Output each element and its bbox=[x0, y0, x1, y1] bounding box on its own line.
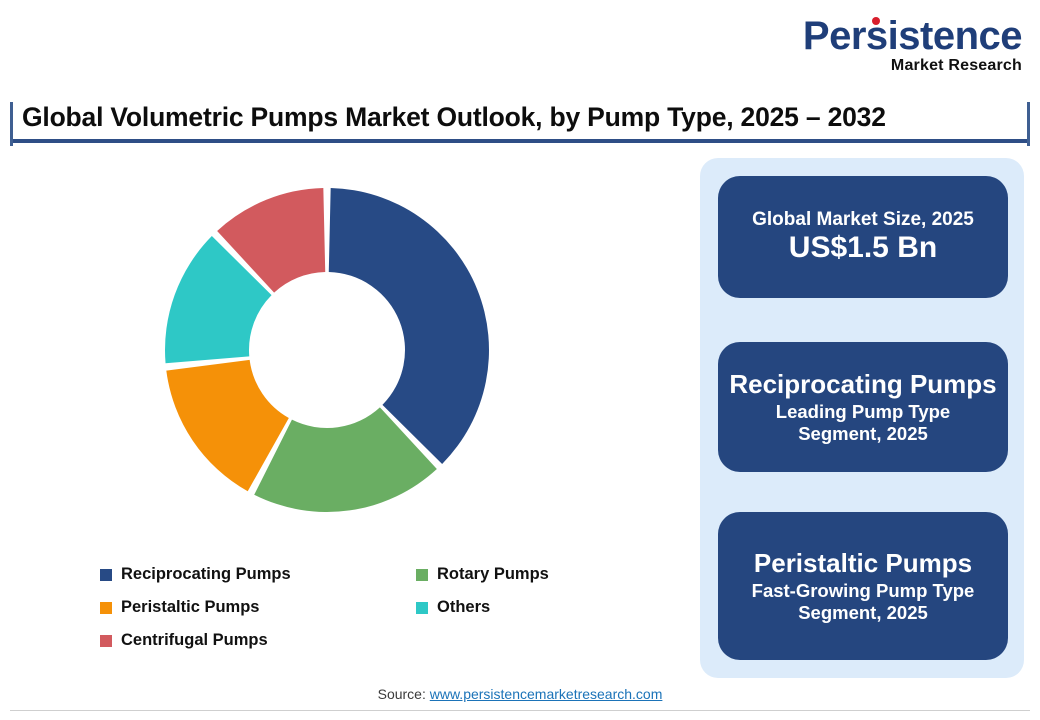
donut-slice[interactable]: Reciprocating Pumps 37.8% bbox=[329, 188, 489, 464]
card-subline-2: Segment, 2025 bbox=[792, 423, 934, 445]
legend-item-reciprocating-pumps[interactable]: Reciprocating Pumps bbox=[100, 565, 416, 584]
legend-label: Others bbox=[437, 598, 490, 617]
highlight-card-leading-segment: Reciprocating Pumps Leading Pump Type Se… bbox=[718, 342, 1008, 472]
footer-divider bbox=[10, 710, 1030, 711]
card-value: US$1.5 Bn bbox=[789, 231, 937, 266]
logo-dot-icon bbox=[872, 17, 880, 25]
brand-logo: Persistence Market Research bbox=[762, 16, 1022, 74]
infographic-page: Persistence Market Research Global Volum… bbox=[0, 0, 1040, 720]
donut-chart: Reciprocating Pumps 37.8%Rotary Pumps 20… bbox=[20, 160, 660, 560]
card-subline-2: Segment, 2025 bbox=[792, 602, 934, 624]
title-left-edge bbox=[10, 102, 13, 146]
legend-item-peristaltic-pumps[interactable]: Peristaltic Pumps bbox=[100, 598, 416, 617]
legend-swatch-icon bbox=[100, 602, 112, 614]
card-caption: Global Market Size, 2025 bbox=[752, 209, 974, 231]
title-right-edge bbox=[1027, 102, 1030, 146]
page-title: Global Volumetric Pumps Market Outlook, … bbox=[0, 102, 1040, 139]
source-link[interactable]: www.persistencemarketresearch.com bbox=[430, 686, 663, 702]
card-headline: Peristaltic Pumps bbox=[744, 548, 982, 578]
legend-label: Rotary Pumps bbox=[437, 565, 549, 584]
source-line: Source: www.persistencemarketresearch.co… bbox=[0, 686, 1040, 702]
card-headline: Reciprocating Pumps bbox=[719, 369, 1006, 399]
legend-swatch-icon bbox=[416, 569, 428, 581]
source-label: Source: bbox=[378, 686, 430, 702]
legend-label: Reciprocating Pumps bbox=[121, 565, 291, 584]
donut-chart-svg: Reciprocating Pumps 37.8%Rotary Pumps 20… bbox=[20, 160, 660, 560]
title-divider bbox=[10, 139, 1030, 143]
highlight-card-market-size: Global Market Size, 2025 US$1.5 Bn bbox=[718, 176, 1008, 298]
card-subline-1: Fast-Growing Pump Type bbox=[746, 580, 981, 602]
highlights-panel: Global Market Size, 2025 US$1.5 Bn Recip… bbox=[700, 158, 1024, 678]
legend-label: Centrifugal Pumps bbox=[121, 631, 268, 650]
card-subline-1: Leading Pump Type bbox=[770, 401, 956, 423]
donut-slice-group: Reciprocating Pumps 37.8%Rotary Pumps 20… bbox=[165, 188, 489, 512]
highlight-card-fast-growing-segment: Peristaltic Pumps Fast-Growing Pump Type… bbox=[718, 512, 1008, 660]
legend-swatch-icon bbox=[100, 635, 112, 647]
legend-item-rotary-pumps[interactable]: Rotary Pumps bbox=[416, 565, 680, 584]
chart-legend: Reciprocating Pumps Rotary Pumps Perista… bbox=[100, 558, 680, 657]
legend-label: Peristaltic Pumps bbox=[121, 598, 259, 617]
legend-swatch-icon bbox=[416, 602, 428, 614]
legend-item-others[interactable]: Others bbox=[416, 598, 680, 617]
title-block: Global Volumetric Pumps Market Outlook, … bbox=[0, 102, 1040, 143]
brand-name: Persistence bbox=[803, 16, 1022, 56]
legend-swatch-icon bbox=[100, 569, 112, 581]
legend-item-centrifugal-pumps[interactable]: Centrifugal Pumps bbox=[100, 631, 416, 650]
brand-tagline: Market Research bbox=[762, 58, 1022, 74]
